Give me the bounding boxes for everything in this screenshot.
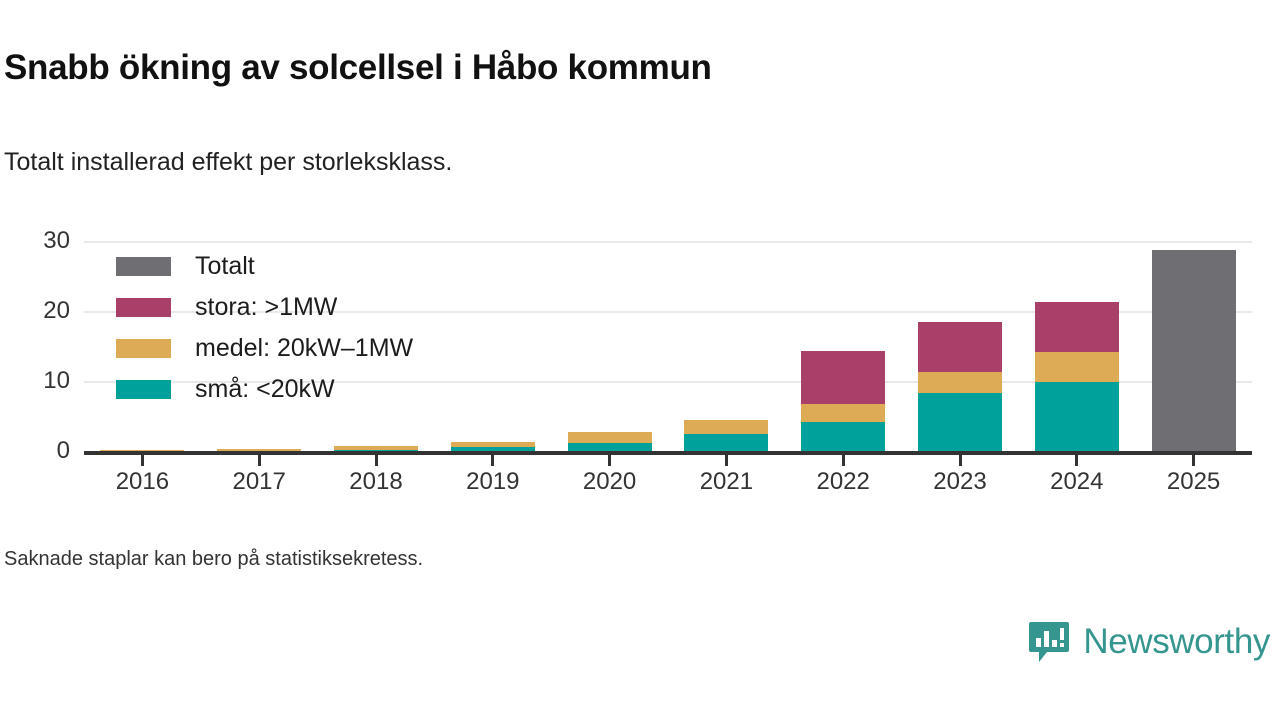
- legend-swatch-totalt: [116, 257, 171, 276]
- x-axis-tick-label: 2018: [316, 468, 436, 496]
- bar-chart-bubble-icon: [1027, 620, 1071, 664]
- bar-group[interactable]: [918, 242, 1002, 452]
- x-axis-tick-label: 2016: [82, 468, 202, 496]
- x-axis-tick: [725, 455, 728, 466]
- x-axis-tick: [258, 455, 261, 466]
- legend-label-medel: medel: 20kW–1MW: [195, 334, 413, 363]
- bar-segment[interactable]: [1035, 352, 1119, 382]
- bar-segment[interactable]: [918, 322, 1002, 372]
- bar-segment[interactable]: [801, 422, 885, 452]
- bar-segment[interactable]: [1035, 382, 1119, 452]
- y-axis-tick-label: 10: [8, 367, 70, 395]
- legend-label-totalt: Totalt: [195, 252, 255, 281]
- y-axis-tick-label: 20: [8, 297, 70, 325]
- x-axis-tick: [491, 455, 494, 466]
- x-axis-tick-label: 2017: [199, 468, 319, 496]
- x-axis-tick: [959, 455, 962, 466]
- x-axis-tick: [1075, 455, 1078, 466]
- y-axis-tick-label: 30: [8, 227, 70, 255]
- bar-segment[interactable]: [568, 432, 652, 443]
- bar-segment[interactable]: [334, 446, 418, 450]
- legend-item-stora[interactable]: stora: >1MW: [116, 287, 413, 328]
- bar-group[interactable]: [1152, 242, 1236, 452]
- x-axis-tick: [141, 455, 144, 466]
- chart-subtitle: Totalt installerad effekt per storlekskl…: [4, 148, 452, 177]
- x-axis-tick-label: 2021: [666, 468, 786, 496]
- bar-segment[interactable]: [918, 372, 1002, 393]
- bar-segment[interactable]: [684, 420, 768, 434]
- y-axis-tick-label: 0: [8, 437, 70, 465]
- bar-group[interactable]: [801, 242, 885, 452]
- legend-item-totalt[interactable]: Totalt: [116, 246, 413, 287]
- legend-swatch-sma: [116, 380, 171, 399]
- x-axis-tick-label: 2020: [550, 468, 670, 496]
- x-axis-tick-label: 2023: [900, 468, 1020, 496]
- legend-label-sma: små: <20kW: [195, 375, 335, 404]
- x-axis-tick-label: 2019: [433, 468, 553, 496]
- bar-segment[interactable]: [801, 351, 885, 404]
- bar-segment[interactable]: [801, 404, 885, 422]
- bar-group[interactable]: [451, 242, 535, 452]
- bar-segment[interactable]: [684, 434, 768, 452]
- bar-segment[interactable]: [1152, 250, 1236, 452]
- x-axis-tick-label: 2025: [1134, 468, 1254, 496]
- legend-item-medel[interactable]: medel: 20kW–1MW: [116, 328, 413, 369]
- newsworthy-logo: Newsworthy: [1027, 620, 1270, 664]
- brand-name: Newsworthy: [1083, 622, 1270, 662]
- legend-label-stora: stora: >1MW: [195, 293, 337, 322]
- legend-swatch-medel: [116, 339, 171, 358]
- chart-legend: Totalt stora: >1MW medel: 20kW–1MW små: …: [116, 246, 413, 410]
- bar-group[interactable]: [568, 242, 652, 452]
- x-axis-tick: [1192, 455, 1195, 466]
- x-axis-tick: [842, 455, 845, 466]
- x-axis-tick: [608, 455, 611, 466]
- bar-segment[interactable]: [918, 393, 1002, 453]
- page-title: Snabb ökning av solcellsel i Håbo kommun: [4, 48, 712, 88]
- bar-group[interactable]: [684, 242, 768, 452]
- x-axis-tick-label: 2024: [1017, 468, 1137, 496]
- legend-item-sma[interactable]: små: <20kW: [116, 369, 413, 410]
- x-axis-tick-label: 2022: [783, 468, 903, 496]
- bar-segment[interactable]: [451, 442, 535, 448]
- chart-note: Saknade staplar kan bero på statistiksek…: [4, 548, 423, 571]
- bar-segment[interactable]: [1035, 302, 1119, 352]
- legend-swatch-stora: [116, 298, 171, 317]
- x-axis-tick: [375, 455, 378, 466]
- bar-group[interactable]: [1035, 242, 1119, 452]
